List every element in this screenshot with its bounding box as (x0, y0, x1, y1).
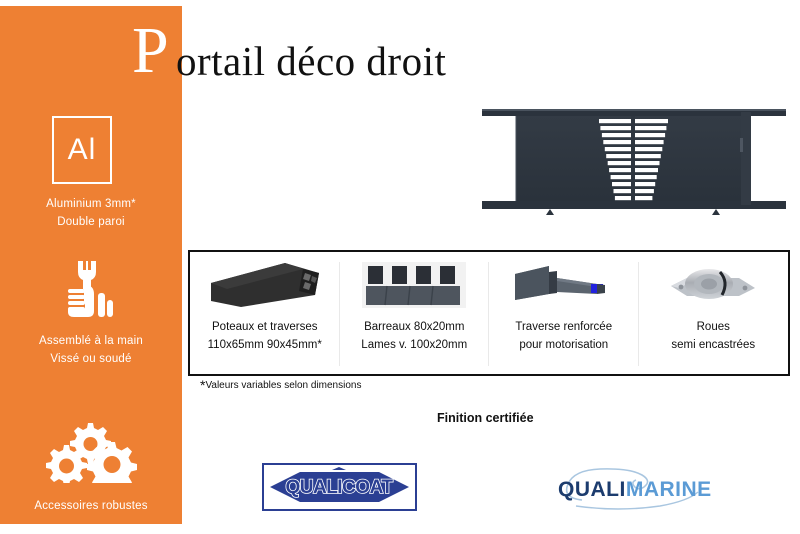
page-title-initial: P (132, 18, 169, 84)
sidebar-item-aluminium: Aluminium 3mm* Double paroi (0, 194, 182, 230)
hand-wrench-icon (0, 259, 182, 326)
page-title-rest: ortail déco droit (176, 38, 446, 84)
feature-traverse-line2: pour motorisation (519, 337, 608, 353)
feature-traverse-renforcee: Traverse renforcée pour motorisation (489, 252, 639, 374)
sidebar-item-assembly-line1: Assemblé à la main (0, 334, 182, 349)
aluminium-al-square-icon: Al (52, 116, 112, 184)
qualimarine-logo: QUALIMARINE (548, 462, 713, 512)
gate-product-photo (478, 100, 790, 222)
sidebar-item-accessories-line1: Accessoires robustes (0, 499, 182, 514)
sidebar-item-assembly-line2: Vissé ou soudé (0, 352, 182, 367)
sidebar-item-accessories: Accessoires robustes (0, 496, 182, 514)
aluminium-profile-icon (207, 260, 323, 310)
footnote-text: Valeurs variables selon dimensions (205, 380, 361, 391)
gears-icon (0, 421, 182, 488)
feature-poteaux-line2: 110x65mm 90x45mm* (208, 337, 322, 353)
wheel-bearing-icon (665, 260, 761, 310)
features-box: Poteaux et traverses 110x65mm 90x45mm* (188, 250, 790, 376)
svg-text:QUALICOAT: QUALICOAT (285, 477, 393, 498)
qualicoat-logo: QUALICOAT (262, 463, 417, 511)
footnote: *Valeurs variables selon dimensions (200, 380, 361, 391)
feature-roues-line2: semi encastrées (671, 337, 755, 353)
sidebar-item-aluminium-line1: Aluminium 3mm* (0, 197, 182, 212)
feature-poteaux-traverses: Poteaux et traverses 110x65mm 90x45mm* (190, 252, 340, 374)
feature-barreaux: Barreaux 80x20mm Lames v. 100x20mm (340, 252, 490, 374)
svg-text:QUALIMARINE: QUALIMARINE (558, 478, 712, 501)
feature-roues-line1: Roues (697, 319, 730, 335)
page-root: Al Aluminium 3mm* Double paroi (0, 0, 800, 534)
finition-certifiee-label: Finition certifiée (437, 411, 534, 425)
feature-traverse-line1: Traverse renforcée (515, 319, 612, 335)
reinforced-crossbar-icon (509, 260, 619, 310)
sidebar-item-aluminium-line2: Double paroi (0, 215, 182, 230)
feature-poteaux-line1: Poteaux et traverses (212, 319, 317, 335)
feature-barreaux-line1: Barreaux 80x20mm (364, 319, 464, 335)
feature-barreaux-line2: Lames v. 100x20mm (361, 337, 467, 353)
feature-roues: Roues semi encastrées (639, 252, 789, 374)
al-symbol-text: Al (54, 118, 110, 182)
bars-slats-icon (362, 260, 466, 310)
sidebar-item-assembly: Assemblé à la main Vissé ou soudé (0, 331, 182, 367)
